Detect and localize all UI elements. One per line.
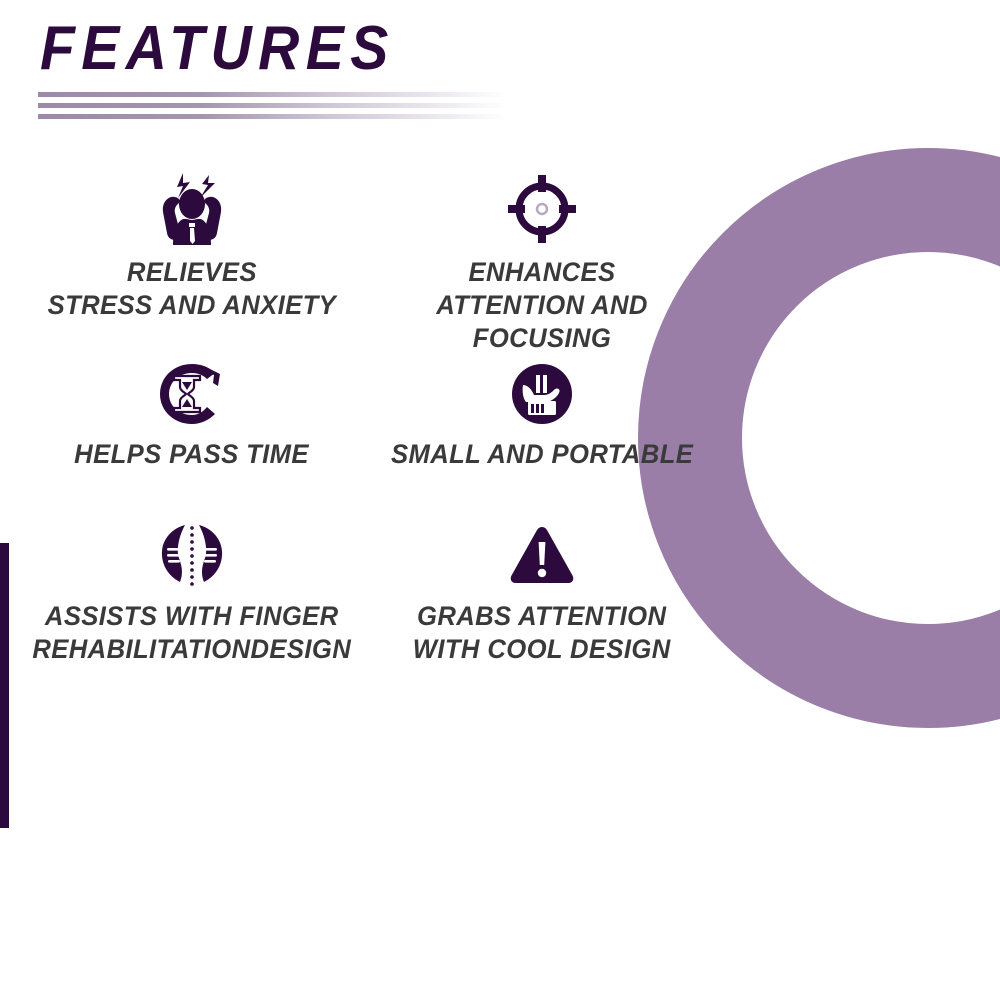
hourglass-time-icon — [156, 360, 228, 428]
features-page: FEATURES RELIEVES STRESS AND ANX — [0, 0, 1000, 1000]
stressed-person-icon — [152, 170, 232, 248]
feature-item-finger-rehab: ASSISTS WITH FINGER REHABILITATIONDESIGN — [22, 520, 362, 710]
hands-finger-rehab-icon — [156, 520, 228, 590]
feature-label: ASSISTS WITH FINGER REHABILITATIONDESIGN — [33, 600, 352, 666]
crosshair-target-icon — [502, 170, 582, 248]
feature-item-helps-pass-time: HELPS PASS TIME — [22, 360, 362, 520]
feature-label: RELIEVES STRESS AND ANXIETY — [48, 256, 337, 322]
left-accent-bar — [0, 543, 9, 828]
header-rule-3 — [38, 114, 508, 119]
feature-label: HELPS PASS TIME — [75, 438, 310, 471]
feature-label: ENHANCES ATTENTION AND FOCUSING — [381, 256, 704, 355]
hand-holding-object-icon — [506, 360, 578, 428]
feature-grid: RELIEVES STRESS AND ANXIETY ENHANCES ATT… — [22, 170, 712, 710]
feature-item-relieves-stress: RELIEVES STRESS AND ANXIETY — [22, 170, 362, 360]
header-rule-2 — [38, 103, 508, 108]
header-rule-group — [38, 92, 508, 119]
warning-triangle-icon — [506, 520, 578, 590]
header-rule-1 — [38, 92, 508, 97]
feature-item-small-portable: SMALL AND PORTABLE — [372, 360, 712, 520]
page-title: FEATURES — [40, 18, 629, 80]
feature-item-grabs-attention: GRABS ATTENTION WITH COOL DESIGN — [372, 520, 712, 710]
page-header: FEATURES — [40, 18, 680, 80]
feature-label: GRABS ATTENTION WITH COOL DESIGN — [413, 600, 671, 666]
feature-label: SMALL AND PORTABLE — [391, 438, 693, 471]
feature-item-enhances-attention: ENHANCES ATTENTION AND FOCUSING — [372, 170, 712, 360]
